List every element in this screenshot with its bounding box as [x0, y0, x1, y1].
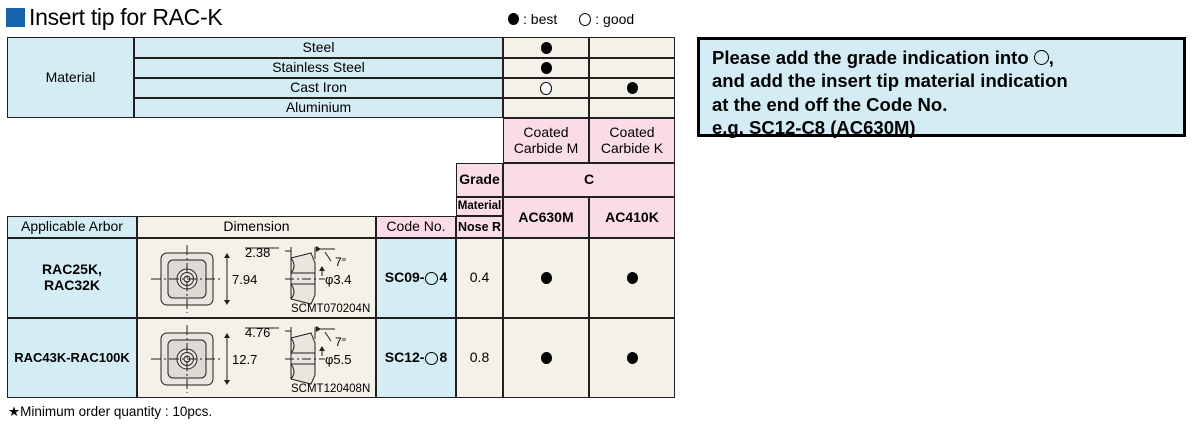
dim-angle-2: 7°	[335, 335, 347, 349]
material-row-header: Material	[7, 37, 134, 118]
legend-good-label: : good	[595, 11, 634, 27]
carbide-k-line1: Coated	[609, 125, 654, 141]
arbor-line1: RAC43K-RAC100K	[14, 351, 130, 366]
filled-circle-icon	[541, 42, 552, 54]
legend-good: : good	[579, 11, 634, 27]
header-grade-value: C	[503, 163, 675, 197]
material-mark-castiron-m	[503, 78, 589, 98]
carbide-m-line1: Coated	[523, 125, 568, 141]
spec-row-2-mark-k	[589, 318, 675, 398]
spec-row-1-arbor: RAC25K, RAC32K	[7, 238, 137, 318]
material-mark-aluminium-k	[589, 98, 675, 118]
code-suffix: 4	[439, 270, 447, 286]
header-nose-r-label: Nose R	[456, 216, 503, 238]
filled-circle-icon	[627, 352, 638, 364]
spec-row-1-code-no: SC09-4	[376, 238, 456, 318]
code-placeholder-circle-icon	[425, 352, 438, 365]
spec-row-1-nose-r: 0.4	[456, 238, 503, 318]
open-circle-icon	[1034, 50, 1049, 65]
spec-row-2-code-no: SC12-8	[376, 318, 456, 398]
filled-circle-icon	[627, 82, 638, 94]
iso-code-1: SCMT070204N	[291, 303, 370, 315]
arbor-line1: RAC25K,	[42, 262, 102, 278]
header-grade-k: AC410K	[589, 197, 675, 238]
title-marker-icon	[6, 8, 25, 27]
code-prefix: SC12-	[385, 350, 425, 366]
legend-best: : best	[508, 11, 557, 27]
dim-width-2: 12.7	[232, 352, 257, 367]
insert-drawing-1: 7.94 2.38 ​ 7° φ3.4 SCMT070204N	[139, 239, 375, 317]
carbide-m-line2: Carbide M	[514, 141, 579, 157]
note-line-4: e.g. SC12-C8 (AC630M)	[712, 116, 1183, 139]
legend-best-label: : best	[523, 11, 557, 27]
material-name-aluminium: Aluminium	[134, 98, 503, 118]
open-circle-icon	[579, 13, 591, 26]
page-title: Insert tip for RAC-K	[6, 4, 222, 31]
header-material-label: Material	[456, 197, 503, 216]
note-line-1: Please add the grade indication into ,	[712, 46, 1183, 69]
header-grade-label: Grade	[456, 163, 503, 197]
header-coated-carbide-m: Coated Carbide M	[503, 118, 589, 163]
spec-row-2-dimension: 12.7 4.76 7° φ5.5 SCMT120408N	[137, 318, 376, 398]
header-code-no: Code No.	[376, 216, 456, 238]
material-mark-steel-k	[589, 37, 675, 58]
material-name-steel: Steel	[134, 37, 503, 58]
header-coated-carbide-k: Coated Carbide K	[589, 118, 675, 163]
dim-thickness-1: 2.38	[245, 245, 270, 260]
dim-hole-1: φ3.4	[325, 272, 352, 287]
iso-code-2: SCMT120408N	[291, 383, 370, 395]
filled-circle-icon	[541, 272, 552, 284]
spec-row-2-arbor: RAC43K-RAC100K	[7, 318, 137, 398]
note-line-3: at the end off the Code No.	[712, 93, 1183, 116]
spec-row-1-dimension: 7.94 2.38 ​ 7° φ3.4 SCMT070204N	[137, 238, 376, 318]
material-mark-aluminium-m	[503, 98, 589, 118]
title-label: Insert tip for RAC-K	[29, 4, 222, 31]
filled-circle-icon	[627, 272, 638, 284]
material-mark-steel-m	[503, 37, 589, 58]
filled-circle-icon	[508, 13, 519, 25]
insert-drawing-2: 12.7 4.76 7° φ5.5 SCMT120408N	[139, 319, 375, 397]
carbide-k-line2: Carbide K	[601, 141, 663, 157]
header-applicable-arbor: Applicable Arbor	[7, 216, 137, 238]
material-mark-castiron-k	[589, 78, 675, 98]
dim-angle-1: 7°	[335, 255, 347, 269]
header-grade-m: AC630M	[503, 197, 589, 238]
filled-circle-icon	[541, 62, 552, 74]
filled-circle-icon	[541, 352, 552, 364]
footnote: ★Minimum order quantity : 10pcs.	[8, 404, 212, 420]
code-suffix: 8	[439, 350, 447, 366]
material-mark-stainless-m	[503, 58, 589, 78]
dim-width-1: 7.94	[232, 272, 257, 287]
note-box: Please add the grade indication into , a…	[697, 37, 1186, 137]
material-name-stainless-steel: Stainless Steel	[134, 58, 503, 78]
spec-row-1-mark-m	[503, 238, 589, 318]
legend: : best : good	[508, 11, 634, 27]
spec-row-2-mark-m	[503, 318, 589, 398]
dim-hole-2: φ5.5	[325, 352, 352, 367]
dim-thickness-2: 4.76	[245, 325, 270, 340]
material-name-cast-iron: Cast Iron	[134, 78, 503, 98]
material-mark-stainless-k	[589, 58, 675, 78]
arbor-line2: RAC32K	[44, 278, 100, 294]
header-dimension: Dimension	[137, 216, 376, 238]
note-line-2: and add the insert tip material indicati…	[712, 69, 1183, 92]
open-circle-icon	[540, 82, 552, 95]
code-placeholder-circle-icon	[425, 272, 438, 285]
code-prefix: SC09-	[385, 270, 425, 286]
spec-row-1-mark-k	[589, 238, 675, 318]
spec-row-2-nose-r: 0.8	[456, 318, 503, 398]
